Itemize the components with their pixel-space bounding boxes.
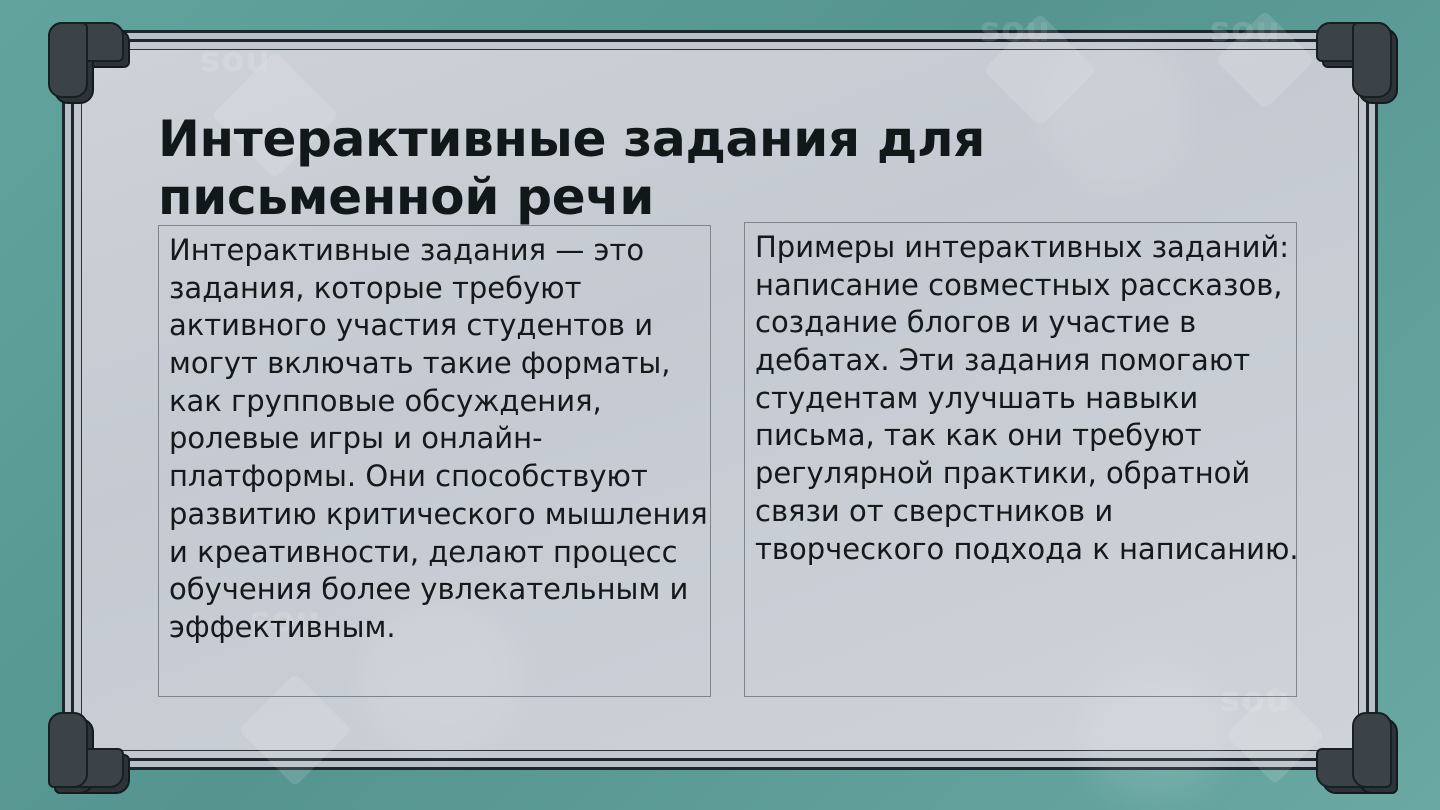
- left-text-box-body: Интерактивные задания — это задания, кот…: [169, 232, 709, 647]
- slide-title: Интерактивные задания для письменной реч…: [158, 110, 1098, 226]
- slide-stage: sou sou sou sou sou Интерактивные задани…: [0, 0, 1440, 810]
- left-text-box: Интерактивные задания — это задания, кот…: [158, 225, 711, 697]
- right-text-box: Примеры интерактивных заданий: написание…: [744, 222, 1297, 697]
- slide-content: Интерактивные задания для письменной реч…: [0, 0, 1440, 810]
- right-text-box-body: Примеры интерактивных заданий: написание…: [755, 229, 1300, 568]
